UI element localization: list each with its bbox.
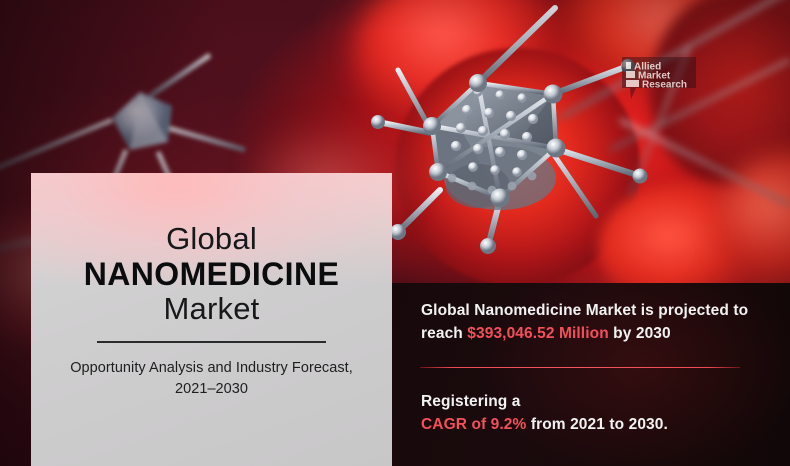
stat-block-market-value: Global Nanomedicine Market is projected … bbox=[421, 300, 766, 346]
title-panel: Global NANOMEDICINE Market Opportunity A… bbox=[31, 173, 392, 466]
logo-line-3: Research bbox=[642, 80, 687, 91]
stat-text-after: by 2030 bbox=[609, 325, 671, 342]
cagr-lead: Registering a bbox=[421, 393, 521, 410]
stats-panel: Global Nanomedicine Market is projected … bbox=[421, 300, 766, 437]
subtitle: Opportunity Analysis and Industry Foreca… bbox=[31, 358, 392, 400]
stats-divider bbox=[420, 367, 740, 369]
title-divider bbox=[97, 341, 326, 343]
title-prefix: Global bbox=[31, 223, 392, 255]
stat-block-cagr: Registering aCAGR of 9.2% from 2021 to 2… bbox=[421, 391, 766, 437]
stat-highlight-value: $393,046.52 Million bbox=[467, 325, 608, 342]
infographic-canvas: Allied Market Research Global NANOMEDICI… bbox=[0, 0, 790, 466]
cagr-text-after: from 2021 to 2030. bbox=[526, 416, 667, 433]
title-suffix: Market bbox=[31, 293, 392, 326]
subtitle-line-2: 2021–2030 bbox=[175, 381, 248, 397]
allied-market-research-logo[interactable]: Allied Market Research bbox=[622, 57, 696, 99]
subtitle-line-1: Opportunity Analysis and Industry Foreca… bbox=[70, 360, 353, 376]
cagr-highlight: CAGR of 9.2% bbox=[421, 416, 526, 433]
page-title: NANOMEDICINE bbox=[31, 256, 392, 292]
